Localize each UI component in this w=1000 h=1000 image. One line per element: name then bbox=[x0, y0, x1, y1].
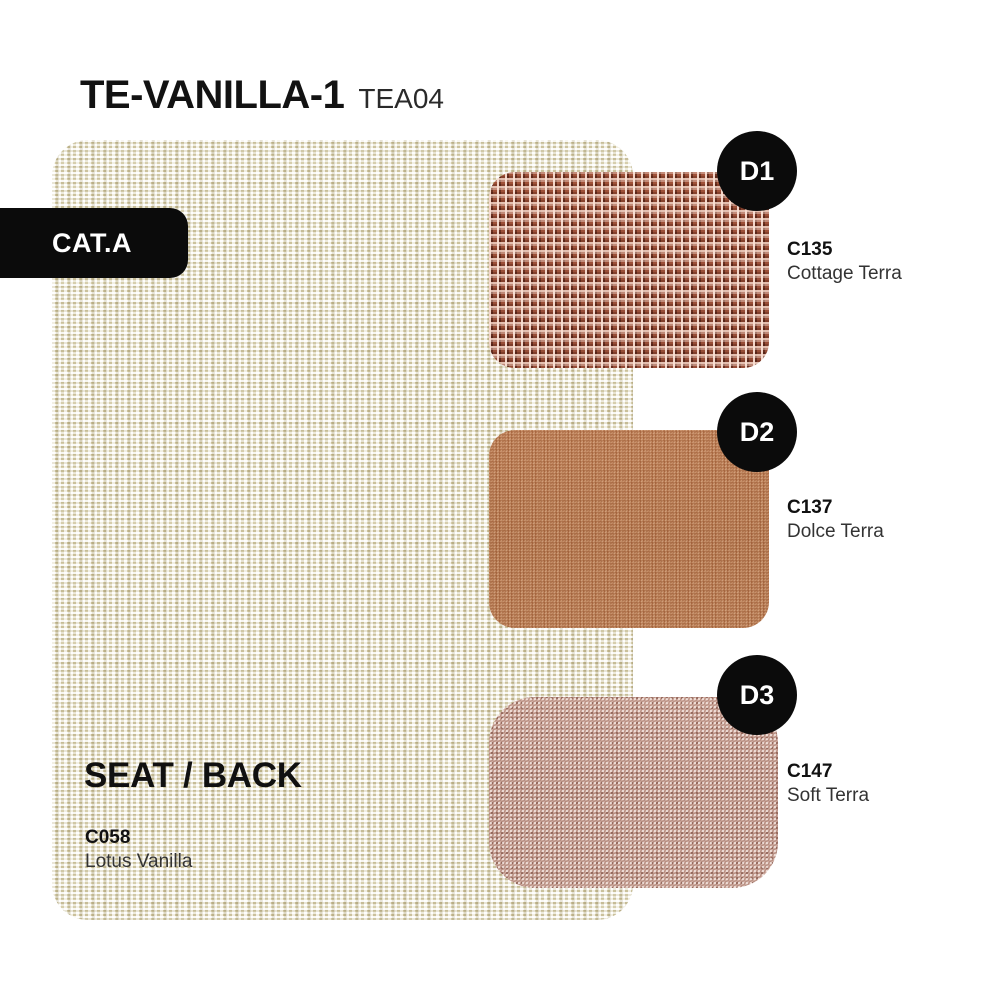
marker-dot-d1: D1 bbox=[717, 131, 797, 211]
swatch-detail-d1[interactable] bbox=[489, 172, 769, 368]
category-badge: CAT.A bbox=[0, 208, 188, 278]
category-badge-label: CAT.A bbox=[16, 228, 132, 259]
marker-dot-d2-label: D2 bbox=[740, 417, 775, 448]
marker-dot-d1-label: D1 bbox=[740, 156, 775, 187]
marker-dot-d3: D3 bbox=[717, 655, 797, 735]
caption-d2-name: Dolce Terra bbox=[787, 520, 884, 545]
page-title: TE-VANILLA-1 bbox=[80, 75, 344, 115]
caption-d2: C137 Dolce Terra bbox=[787, 496, 884, 544]
caption-d1-code: C135 bbox=[787, 238, 902, 262]
caption-d1-name: Cottage Terra bbox=[787, 262, 902, 287]
caption-d3-name: Soft Terra bbox=[787, 784, 869, 809]
page-title-code: TEA04 bbox=[358, 85, 444, 113]
caption-main: C058 Lotus Vanilla bbox=[85, 826, 192, 874]
caption-d2-code: C137 bbox=[787, 496, 884, 520]
caption-d1: C135 Cottage Terra bbox=[787, 238, 902, 286]
caption-d3: C147 Soft Terra bbox=[787, 760, 869, 808]
caption-main-code: C058 bbox=[85, 826, 192, 850]
caption-d3-code: C147 bbox=[787, 760, 869, 784]
marker-dot-d2: D2 bbox=[717, 392, 797, 472]
caption-main-name: Lotus Vanilla bbox=[85, 850, 192, 875]
page-title-group: TE-VANILLA-1 TEA04 bbox=[80, 75, 444, 115]
main-swatch-area-label: SEAT / BACK bbox=[84, 758, 302, 793]
swatch-detail-d2[interactable] bbox=[489, 430, 769, 628]
marker-dot-d3-label: D3 bbox=[740, 680, 775, 711]
fabric-swatch-sheet: TE-VANILLA-1 TEA04 CAT.A D1 D2 D3 C135 C… bbox=[0, 0, 1000, 1000]
